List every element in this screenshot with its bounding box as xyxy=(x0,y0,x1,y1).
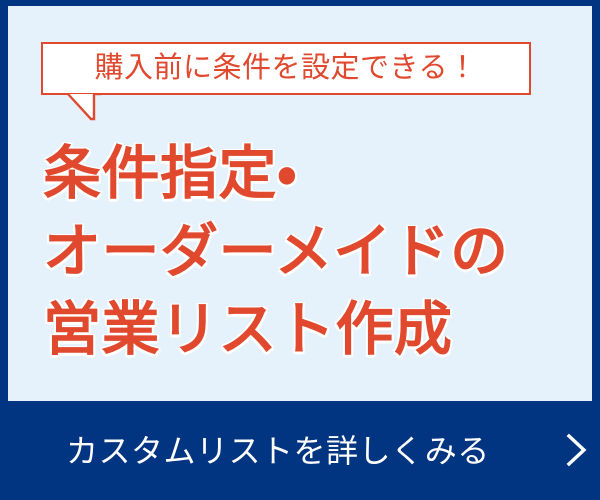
cta-label: カスタムリストを詳しくみる xyxy=(66,435,490,467)
banner-content-panel: 購入前に条件を設定できる！ 条件指定・ オーダーメイドの 営業リスト作成 xyxy=(8,6,592,401)
promo-banner: 購入前に条件を設定できる！ 条件指定・ オーダーメイドの 営業リスト作成 カスタ… xyxy=(0,0,600,500)
headline-line-3: 営業リスト作成 xyxy=(43,291,583,369)
cta-button[interactable]: カスタムリストを詳しくみる xyxy=(0,401,600,500)
headline-line-1: 条件指定・ xyxy=(43,135,583,213)
chevron-right-icon xyxy=(563,433,589,467)
speech-bubble-badge: 購入前に条件を設定できる！ xyxy=(41,42,531,95)
headline: 条件指定・ オーダーメイドの 営業リスト作成 xyxy=(43,135,583,369)
speech-bubble-text: 購入前に条件を設定できる！ xyxy=(95,54,478,83)
headline-line-2: オーダーメイドの xyxy=(43,213,583,291)
speech-bubble-tail-icon xyxy=(67,93,101,121)
